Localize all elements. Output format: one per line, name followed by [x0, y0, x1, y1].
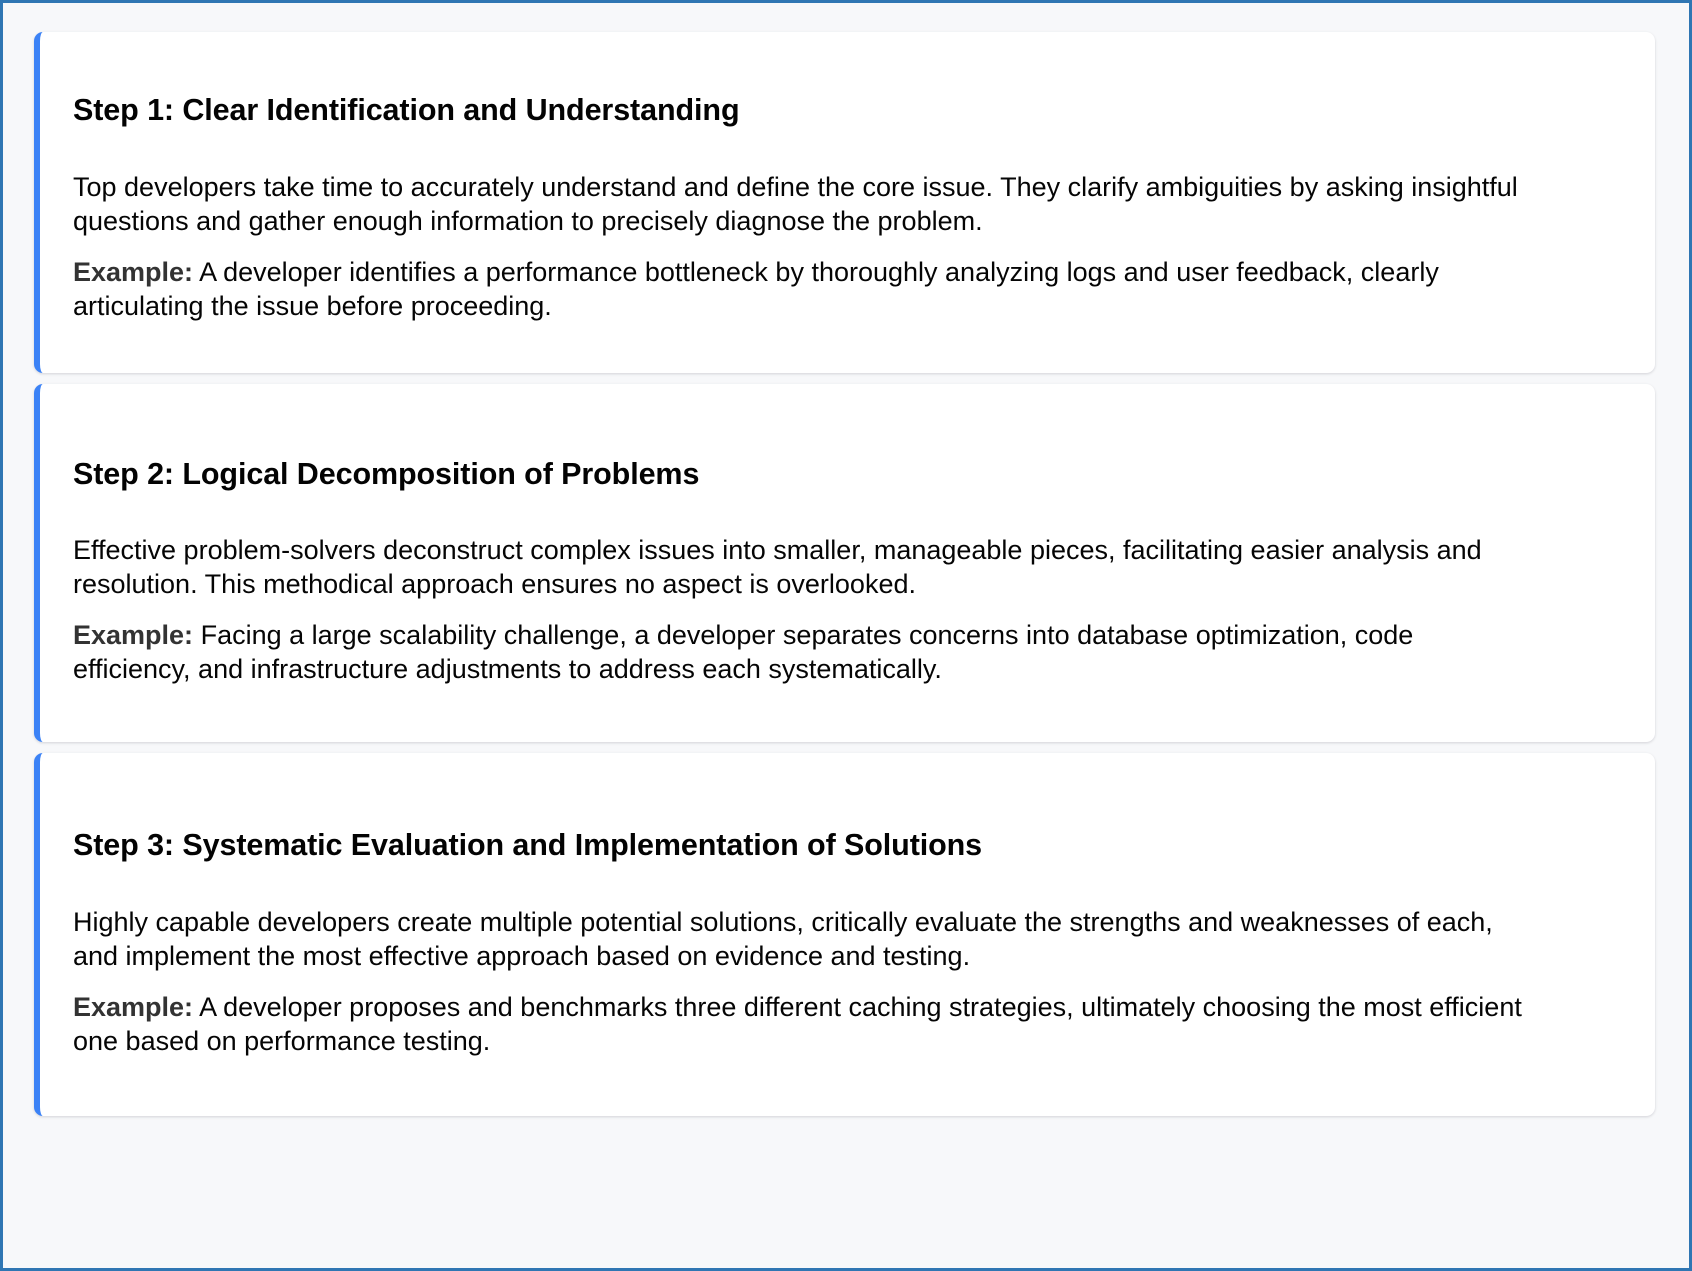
step-1-description: Top developers take time to accurately u…: [73, 170, 1523, 238]
step-2-example-text: Facing a large scalability challenge, a …: [73, 620, 1413, 684]
step-card-3: Step 3: Systematic Evaluation and Implem…: [34, 753, 1655, 1116]
step-2-example: Example: Facing a large scalability chal…: [73, 618, 1533, 686]
step-2-description: Effective problem-solvers deconstruct co…: [73, 533, 1523, 601]
step-card-2: Step 2: Logical Decomposition of Problem…: [34, 384, 1655, 743]
step-3-example-text: A developer proposes and benchmarks thre…: [73, 992, 1522, 1056]
step-1-title: Step 1: Clear Identification and Underst…: [73, 92, 1621, 129]
step-3-example-label: Example:: [73, 992, 193, 1022]
step-1-example: Example: A developer identifies a perfor…: [73, 255, 1533, 323]
step-card-1: Step 1: Clear Identification and Underst…: [34, 32, 1655, 373]
steps-list: Step 1: Clear Identification and Underst…: [34, 32, 1655, 1116]
step-1-example-text: A developer identifies a performance bot…: [73, 257, 1439, 321]
step-3-title: Step 3: Systematic Evaluation and Implem…: [73, 827, 1621, 864]
page-frame: Step 1: Clear Identification and Underst…: [0, 0, 1692, 1271]
step-2-title: Step 2: Logical Decomposition of Problem…: [73, 456, 1621, 493]
step-1-example-label: Example:: [73, 257, 193, 287]
step-3-description: Highly capable developers create multipl…: [73, 905, 1523, 973]
step-3-example: Example: A developer proposes and benchm…: [73, 990, 1533, 1058]
step-2-example-label: Example:: [73, 620, 193, 650]
